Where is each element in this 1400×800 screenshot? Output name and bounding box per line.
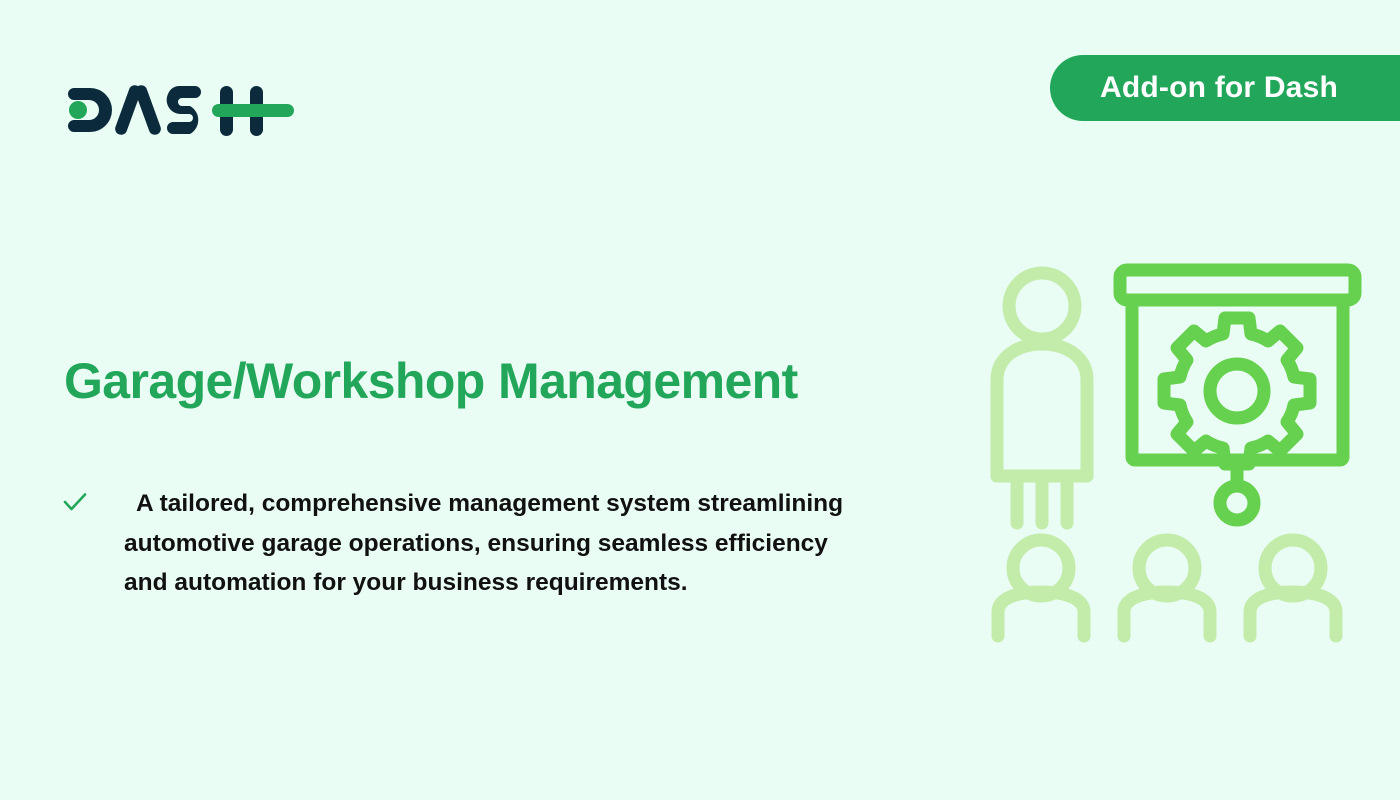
audience-person-icon (998, 540, 1084, 636)
slide-root: Add-on for Dash Garage/Workshop Manageme… (0, 0, 1400, 800)
gear-icon (1164, 318, 1310, 464)
presentation-training-illustration (975, 258, 1365, 648)
check-icon (62, 489, 88, 515)
audience-person-icon (1124, 540, 1210, 636)
green-dot-icon (69, 101, 87, 119)
logo-letter-s (167, 86, 201, 134)
feature-bullet: A tailored, comprehensive management sys… (62, 484, 862, 603)
feature-bullet-text: A tailored, comprehensive management sys… (124, 484, 849, 603)
presenter-figure-icon (997, 273, 1087, 523)
page-title: Garage/Workshop Management (64, 354, 964, 409)
audience-person-icon (1250, 540, 1336, 636)
dash-logo[interactable] (64, 78, 294, 140)
add-on-badge-label: Add-on for Dash (1100, 71, 1338, 105)
green-strikethrough-icon (212, 104, 294, 117)
logo-letter-a (113, 84, 162, 137)
add-on-badge[interactable]: Add-on for Dash (1050, 55, 1400, 121)
